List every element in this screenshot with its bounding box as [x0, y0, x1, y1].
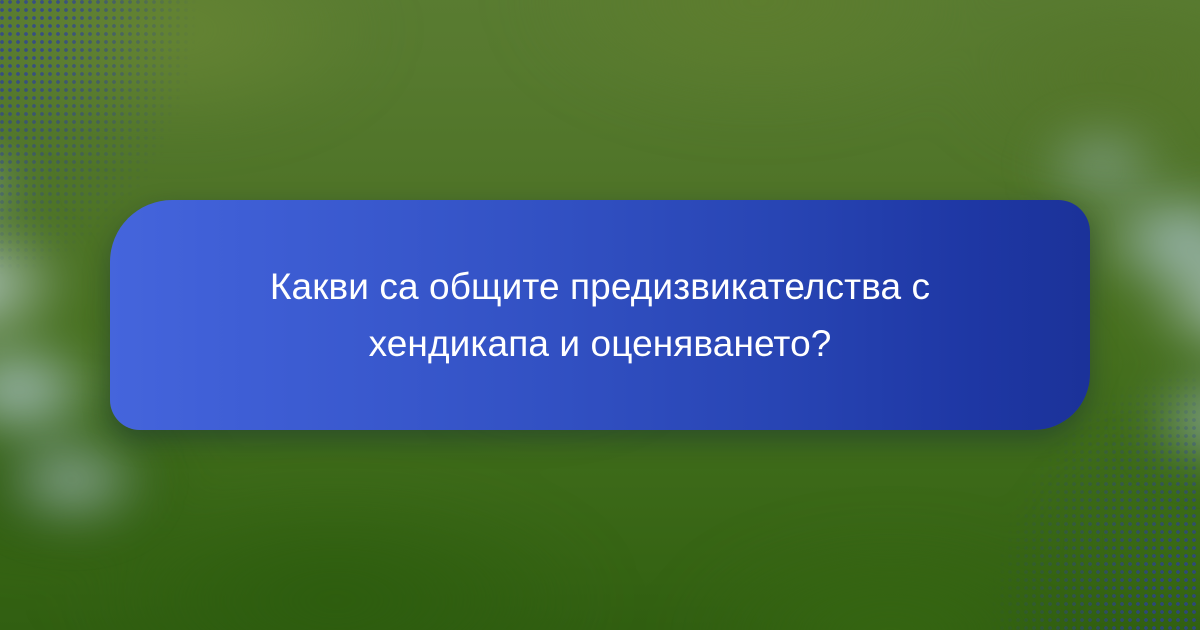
- quote-text: Какви са общите предизвикателства с хенд…: [270, 258, 930, 372]
- social-quote-card-image: Какви са общите предизвикателства с хенд…: [0, 0, 1200, 630]
- quote-card: Какви са общите предизвикателства с хенд…: [110, 200, 1090, 430]
